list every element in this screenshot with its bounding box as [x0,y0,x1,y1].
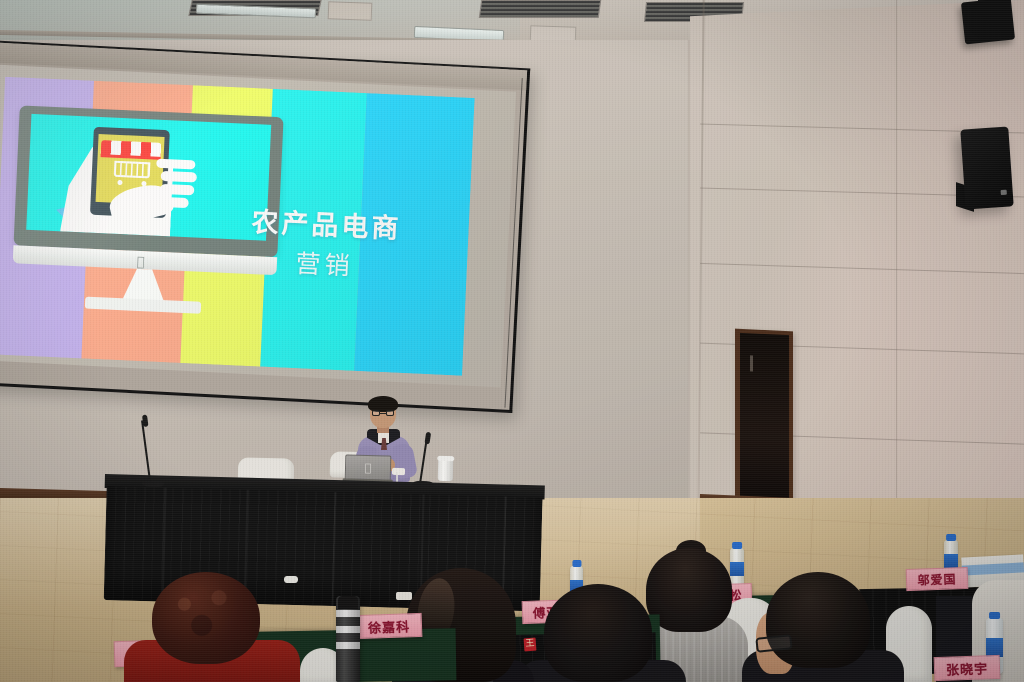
slide-band-sky [354,93,475,376]
apple-logo-icon:  [365,462,372,473]
bottle-cap [989,612,1001,619]
audience-person-head [766,572,870,668]
mic-head-icon [424,432,431,445]
bottle-cap [572,560,581,567]
red-object-mark: 王 [524,638,537,652]
ceiling-panel [328,1,373,21]
projection-screen-surface:  农产品电商 营销 [0,64,516,387]
name-card: 邬爱国 [906,567,969,591]
presentation-slide:  农产品电商 营销 [0,77,475,376]
thermos-cap [338,596,358,609]
glasses-bridge [380,413,386,414]
cup-lid [437,456,454,461]
finger-icon [160,184,194,195]
imac-stand-neck [122,268,166,302]
apple-logo-icon:  [136,256,148,270]
gooseneck-microphone[interactable] [140,415,168,488]
small-table-object [396,592,412,600]
thermos-flask[interactable] [336,596,360,682]
small-table-object [284,576,298,583]
bottle-label [944,554,958,568]
water-bottle[interactable] [730,548,744,588]
thermos-stripe [336,626,360,633]
water-cup[interactable] [438,459,454,481]
imac-display [26,114,271,241]
speaker-led-icon [1001,190,1007,195]
booklet-cover [962,562,1024,575]
ceiling-speaker-icon [961,0,1015,44]
bottle-cap [946,534,956,541]
air-vent-icon [479,0,602,18]
bottle-cap [732,542,742,549]
hair-texture [152,572,260,664]
door-highlight [750,355,753,371]
door-frame[interactable] [735,329,793,510]
imac-bezel [14,105,283,257]
name-card: 张晓宇 [934,655,1001,681]
shopping-cart-icon [114,160,150,178]
conference-hall-photo:  农产品电商 营销 [0,0,1024,682]
wall-speaker-icon [960,126,1013,209]
finger-icon [157,197,189,208]
imac-illustration-icon:  [11,105,283,317]
glasses-lens-left [372,410,380,416]
mic-head-icon [142,414,149,427]
glasses-lens-right [386,410,394,416]
open-doorway[interactable] [740,333,789,509]
mic-stem [141,420,151,482]
bottle-label [730,562,744,576]
audience-person-head [544,584,652,682]
glasses-icon [372,410,394,416]
wall-seam-vertical [896,0,897,500]
laptop-lid:  [345,454,392,480]
mic-base [142,480,164,488]
cart-wheel-icon [117,180,122,185]
gooseneck-microphone[interactable] [410,432,437,489]
name-card: 徐嘉科 [356,613,423,639]
finger-icon [161,171,197,182]
projection-screen:  农产品电商 营销 [0,40,530,413]
thermos-stripe [336,642,360,649]
laptop-macbook[interactable]:  [344,454,393,483]
mic-base [412,481,434,489]
red-table-object: 王 [524,638,537,652]
thermos-stripe [336,610,360,617]
